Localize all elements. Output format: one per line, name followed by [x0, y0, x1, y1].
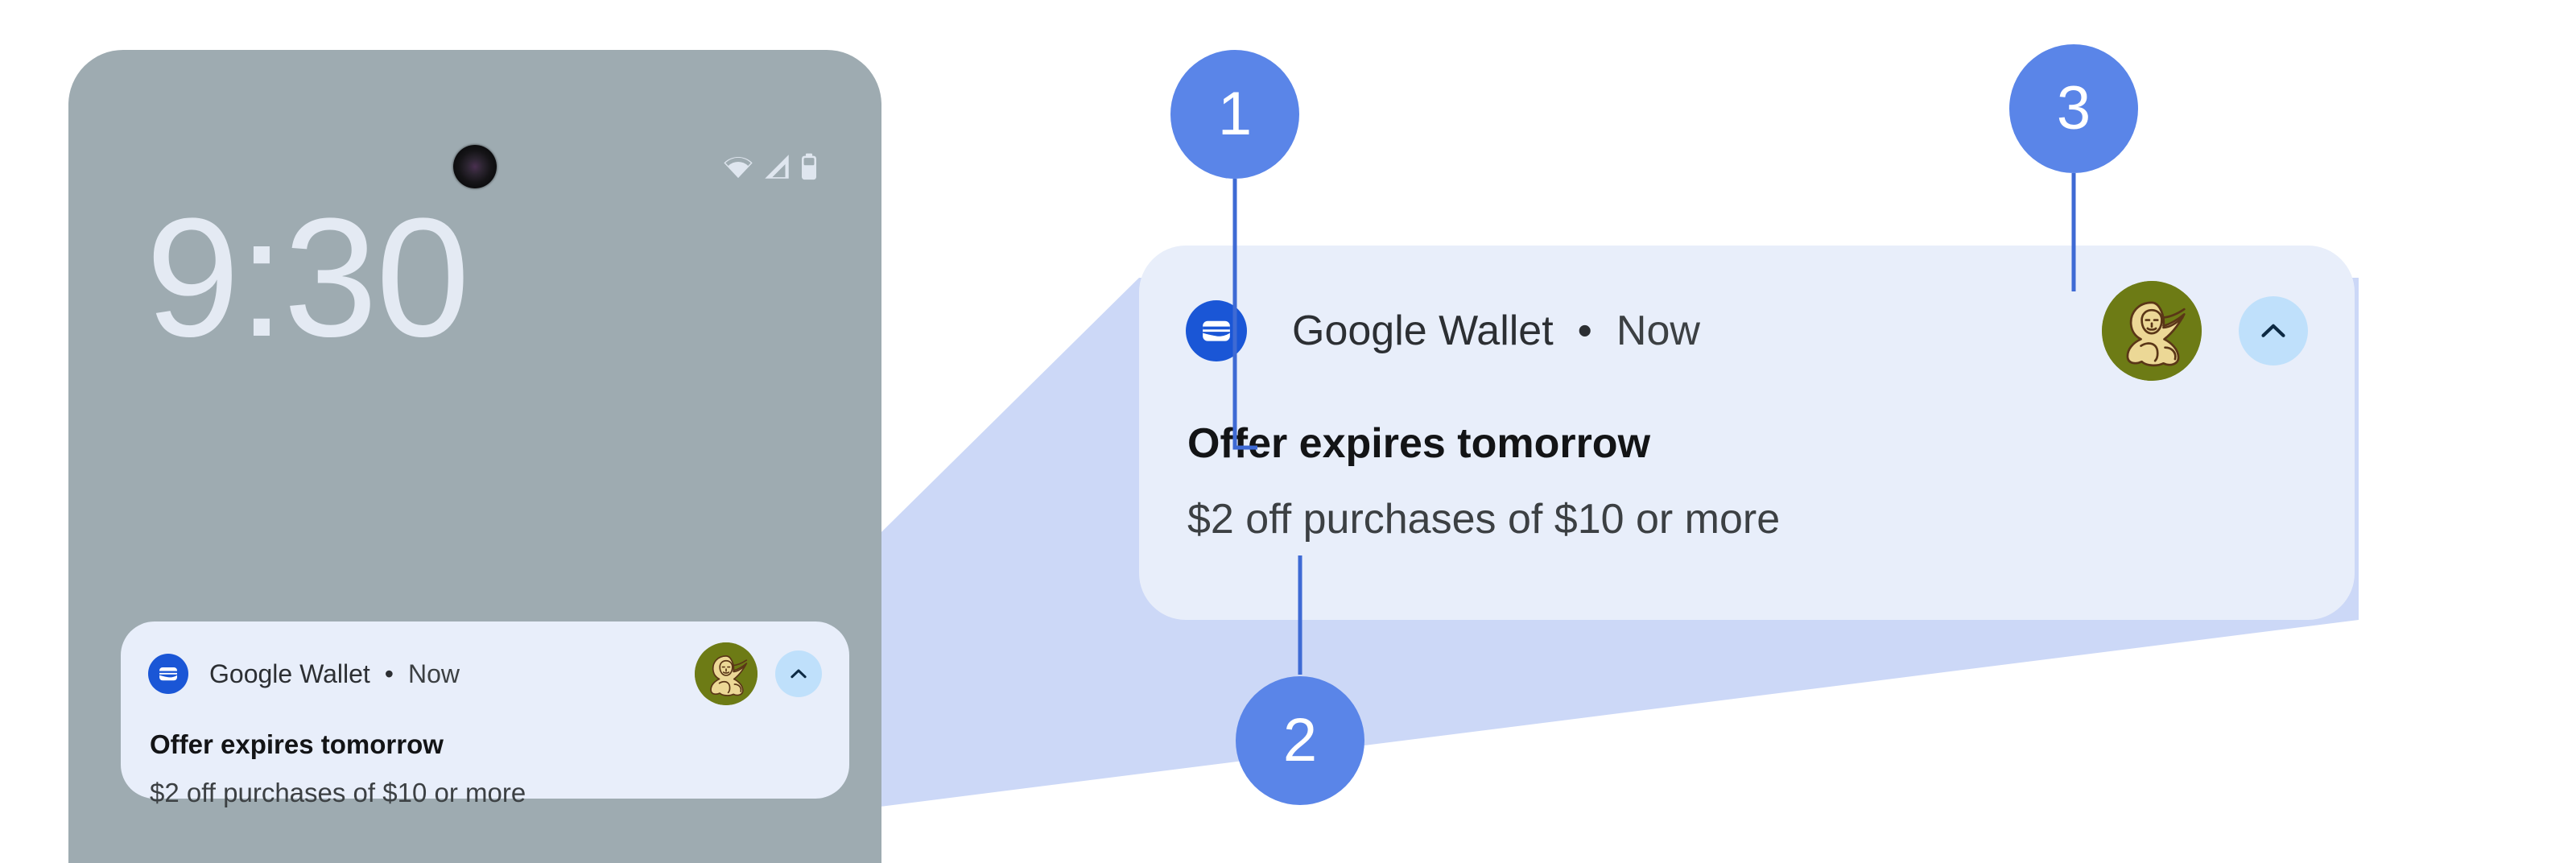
notification-title: Offer expires tomorrow: [1187, 419, 2308, 468]
callout-badge-3[interactable]: 3: [2009, 44, 2138, 173]
notification-card-small[interactable]: Google Wallet • Now: [121, 621, 849, 799]
status-bar-icons: [722, 153, 819, 180]
merchant-avatar: [695, 642, 758, 705]
chevron-up-icon: [786, 662, 811, 686]
wifi-icon: [722, 153, 754, 180]
expand-notification-button[interactable]: [2239, 296, 2308, 365]
merchant-avatar: [2102, 281, 2202, 381]
notification-header: Google Wallet • Now: [148, 642, 822, 705]
expand-notification-button[interactable]: [775, 650, 822, 697]
phone-mockup: 9:30 Google Wallet • Now: [68, 50, 881, 863]
notification-separator: •: [1578, 307, 1592, 355]
notification-body: $2 off purchases of $10 or more: [150, 778, 822, 808]
notification-actions: [2102, 281, 2308, 381]
notification-header: Google Wallet • Now: [1186, 281, 2308, 381]
chevron-up-icon: [2255, 312, 2292, 349]
google-wallet-icon: [1186, 300, 1247, 361]
notification-app-name: Google Wallet: [209, 659, 370, 689]
notification-body: $2 off purchases of $10 or more: [1187, 495, 2308, 543]
notification-actions: [695, 642, 822, 705]
callout-badge-1[interactable]: 1: [1170, 50, 1299, 179]
notification-card-large[interactable]: Google Wallet • Now: [1139, 246, 2355, 620]
notification-separator: •: [385, 659, 394, 689]
cellular-signal-icon: [762, 153, 791, 180]
notification-app-name: Google Wallet: [1292, 307, 1554, 355]
callout-badge-2[interactable]: 2: [1236, 676, 1364, 805]
screenshot-canvas: 9:30 Google Wallet • Now: [0, 0, 2576, 863]
status-bar: [68, 50, 881, 171]
notification-title: Offer expires tomorrow: [150, 729, 822, 760]
notification-timestamp: Now: [408, 659, 460, 689]
battery-icon: [799, 153, 819, 180]
lockscreen-clock: 9:30: [146, 193, 469, 362]
notification-timestamp: Now: [1616, 307, 1700, 355]
camera-punch-hole-icon: [453, 145, 497, 188]
google-wallet-icon: [148, 654, 188, 694]
